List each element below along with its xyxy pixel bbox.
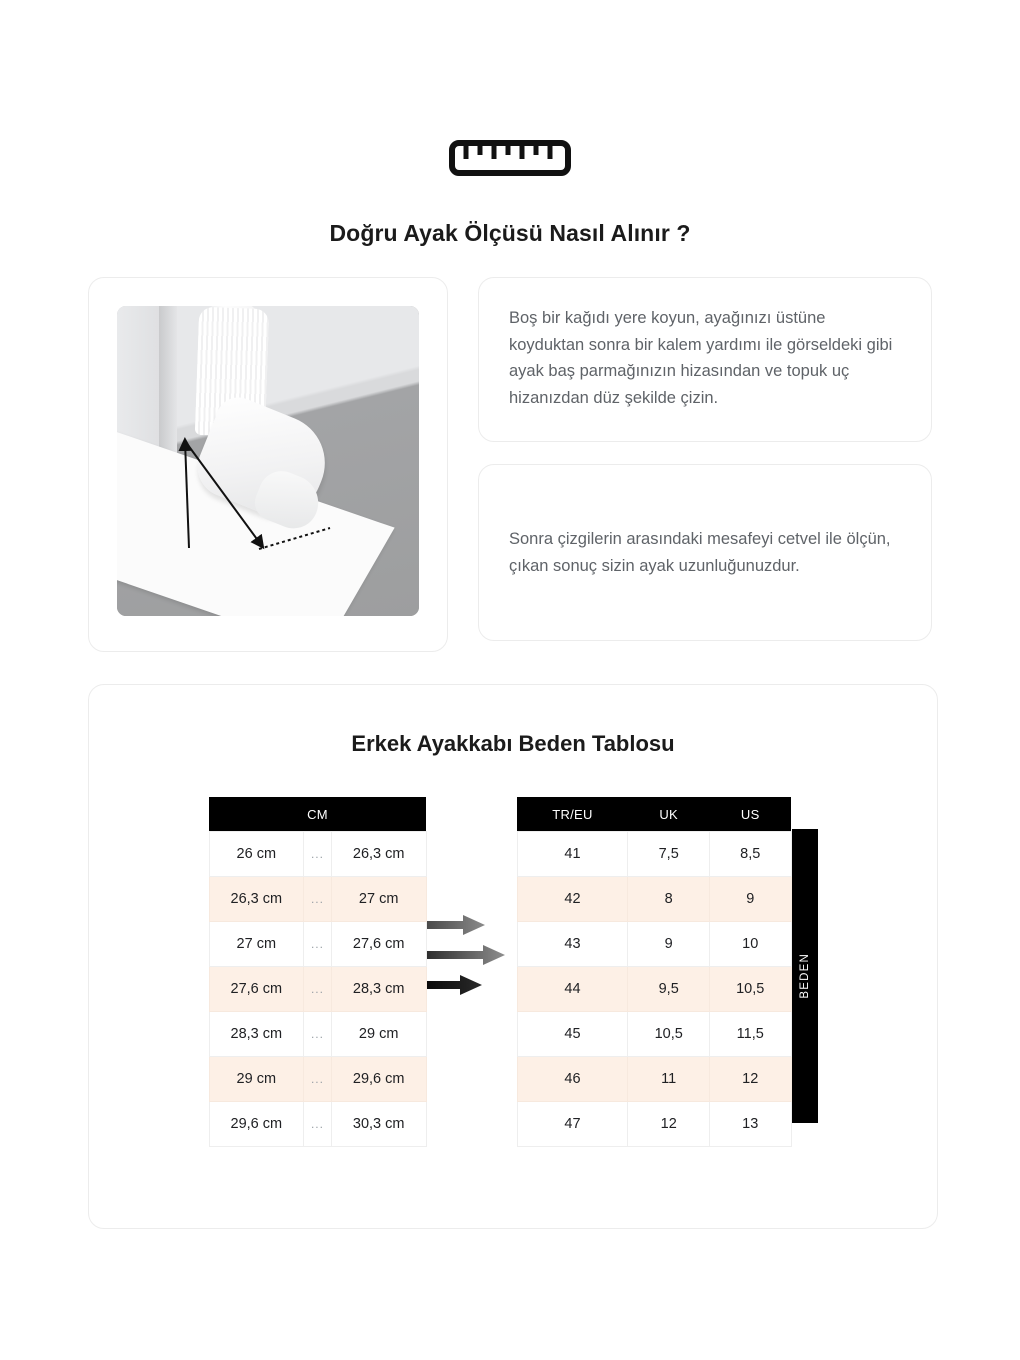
- arrow-right-icon-1: [427, 915, 485, 935]
- cm-to: 27,6 cm: [331, 922, 426, 967]
- size-header-uk: UK: [628, 797, 710, 832]
- size-us: 11,5: [709, 1012, 791, 1057]
- size-us: 9: [709, 877, 791, 922]
- foot-measure-photo: [117, 306, 419, 616]
- page-header: Doğru Ayak Ölçüsü Nasıl Alınır ?: [0, 0, 1020, 247]
- cm-header-row: CM: [209, 797, 426, 832]
- size-tr-eu: 46: [517, 1057, 628, 1102]
- table-row: 42 8 9: [517, 877, 791, 922]
- size-tr-eu: 43: [517, 922, 628, 967]
- size-tr-eu: 47: [517, 1102, 628, 1147]
- table-row: 26,3 cm ... 27 cm: [209, 877, 426, 922]
- table-row: 29,6 cm ... 30,3 cm: [209, 1102, 426, 1147]
- cm-from: 27 cm: [209, 922, 304, 967]
- cm-sep: ...: [304, 832, 332, 877]
- cm-header-cell: CM: [209, 797, 426, 832]
- size-uk: 9,5: [628, 967, 710, 1012]
- ruler-icon: [448, 138, 572, 178]
- cm-range-table: CM 26 cm ... 26,3 cm 26,3 cm ... 27 cm 2…: [209, 797, 427, 1147]
- cm-from: 28,3 cm: [209, 1012, 304, 1057]
- table-row: 47 12 13: [517, 1102, 791, 1147]
- page-title: Doğru Ayak Ölçüsü Nasıl Alınır ?: [0, 220, 1020, 247]
- size-table-card: Erkek Ayakkabı Beden Tablosu CM 26 cm ..…: [88, 684, 938, 1229]
- size-uk: 9: [628, 922, 710, 967]
- cm-sep: ...: [304, 877, 332, 922]
- cm-sep: ...: [304, 1012, 332, 1057]
- conversion-arrows: [427, 797, 517, 995]
- size-table-head: TR/EU UK US: [517, 797, 791, 832]
- size-header-tr-eu: TR/EU: [517, 797, 628, 832]
- instruction-card-1: Boş bir kağıdı yere koyun, ayağınızı üst…: [478, 277, 932, 442]
- table-row: 27,6 cm ... 28,3 cm: [209, 967, 426, 1012]
- size-uk: 8: [628, 877, 710, 922]
- shoe-size-table: TR/EU UK US 41 7,5 8,5 42 8 9 43: [517, 797, 792, 1147]
- cm-table-head: CM: [209, 797, 426, 832]
- table-row: 27 cm ... 27,6 cm: [209, 922, 426, 967]
- size-tables-row: CM 26 cm ... 26,3 cm 26,3 cm ... 27 cm 2…: [89, 797, 937, 1147]
- size-header-us: US: [709, 797, 791, 832]
- size-uk: 11: [628, 1057, 710, 1102]
- table-row: 44 9,5 10,5: [517, 967, 791, 1012]
- beden-side-label: BEDEN: [792, 829, 818, 1123]
- size-us: 10,5: [709, 967, 791, 1012]
- cm-to: 29,6 cm: [331, 1057, 426, 1102]
- table-row: 43 9 10: [517, 922, 791, 967]
- instruction-card-2: Sonra çizgilerin arasındaki mesafeyi cet…: [478, 464, 932, 641]
- table-row: 41 7,5 8,5: [517, 832, 791, 877]
- cm-from: 29,6 cm: [209, 1102, 304, 1147]
- cm-sep: ...: [304, 1102, 332, 1147]
- size-us: 13: [709, 1102, 791, 1147]
- instructions-section: Boş bir kağıdı yere koyun, ayağınızı üst…: [0, 247, 1020, 652]
- table-row: 29 cm ... 29,6 cm: [209, 1057, 426, 1102]
- size-header-row: TR/EU UK US: [517, 797, 791, 832]
- size-uk: 7,5: [628, 832, 710, 877]
- cm-sep: ...: [304, 967, 332, 1012]
- table-row: 28,3 cm ... 29 cm: [209, 1012, 426, 1057]
- instruction-text-2: Sonra çizgilerin arasındaki mesafeyi cet…: [509, 526, 899, 579]
- size-us: 12: [709, 1057, 791, 1102]
- size-us: 8,5: [709, 832, 791, 877]
- size-tr-eu: 44: [517, 967, 628, 1012]
- table-row: 26 cm ... 26,3 cm: [209, 832, 426, 877]
- cm-from: 29 cm: [209, 1057, 304, 1102]
- cm-to: 29 cm: [331, 1012, 426, 1057]
- size-table-title: Erkek Ayakkabı Beden Tablosu: [89, 731, 937, 757]
- photo-measure-arrow: [117, 306, 419, 616]
- cm-from: 26 cm: [209, 832, 304, 877]
- table-row: 45 10,5 11,5: [517, 1012, 791, 1057]
- arrow-right-icon-2: [427, 945, 505, 965]
- beden-side-label-text: BEDEN: [799, 953, 811, 999]
- cm-sep: ...: [304, 1057, 332, 1102]
- arrow-right-icon-3: [427, 975, 482, 995]
- instruction-text-1: Boş bir kağıdı yere koyun, ayağınızı üst…: [509, 305, 899, 412]
- cm-sep: ...: [304, 922, 332, 967]
- cm-from: 27,6 cm: [209, 967, 304, 1012]
- cm-from: 26,3 cm: [209, 877, 304, 922]
- size-tr-eu: 45: [517, 1012, 628, 1057]
- cm-to: 30,3 cm: [331, 1102, 426, 1147]
- cm-to: 27 cm: [331, 877, 426, 922]
- size-tr-eu: 41: [517, 832, 628, 877]
- cm-to: 28,3 cm: [331, 967, 426, 1012]
- size-uk: 12: [628, 1102, 710, 1147]
- cm-table-body: 26 cm ... 26,3 cm 26,3 cm ... 27 cm 27 c…: [209, 832, 426, 1147]
- table-row: 46 11 12: [517, 1057, 791, 1102]
- cm-to: 26,3 cm: [331, 832, 426, 877]
- size-uk: 10,5: [628, 1012, 710, 1057]
- size-tr-eu: 42: [517, 877, 628, 922]
- instruction-cards: Boş bir kağıdı yere koyun, ayağınızı üst…: [478, 277, 932, 641]
- size-table-body: 41 7,5 8,5 42 8 9 43 9 10 44 9,5 10,: [517, 832, 791, 1147]
- foot-measure-photo-card: [88, 277, 448, 652]
- size-us: 10: [709, 922, 791, 967]
